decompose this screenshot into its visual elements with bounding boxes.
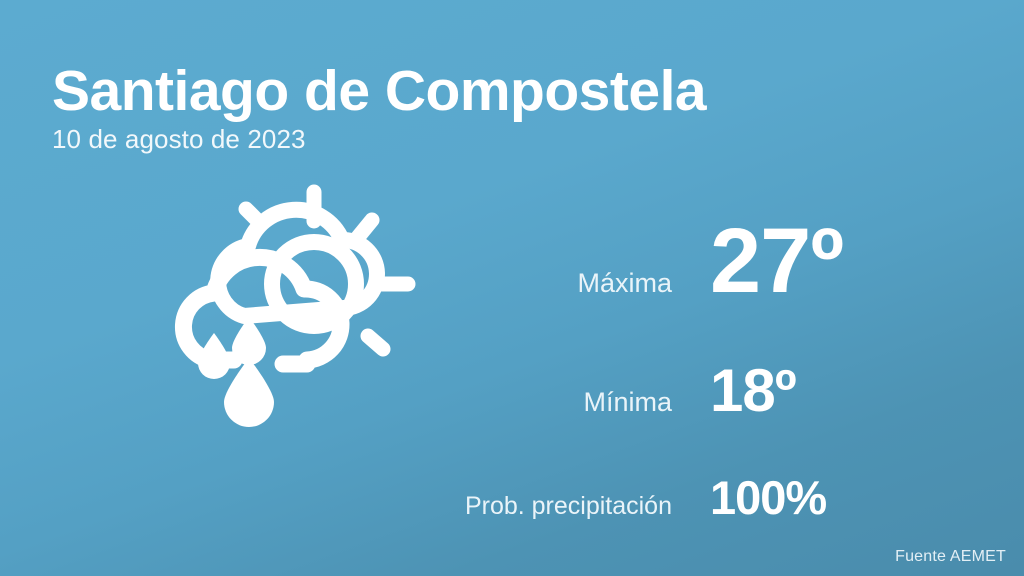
sun-behind-rain-cloud-icon [146,176,436,438]
minima-value: 18º [672,364,796,418]
source-attribution: Fuente AEMET [895,548,1006,566]
forecast-date: 10 de agosto de 2023 [52,120,952,155]
readings-panel: Máxima 27º Mínima 18º Prob. precipitació… [420,178,960,518]
sun-ray-lower-right [368,336,383,349]
raindrop-small-top [232,317,266,365]
weather-card: Santiago de Compostela 10 de agosto de 2… [0,0,1024,576]
city-title: Santiago de Compostela [52,62,952,120]
reading-row-maxima: Máxima 27º [420,220,960,303]
precipitacion-value: 100% [672,477,826,519]
raindrop-left [198,333,230,379]
weather-icon [146,176,436,438]
reading-row-precipitacion: Prob. precipitación 100% [420,477,960,521]
maxima-value: 27º [672,220,843,303]
reading-row-minima: Mínima 18º [420,364,960,418]
maxima-label: Máxima [420,268,672,299]
minima-label: Mínima [420,387,672,418]
card-header: Santiago de Compostela 10 de agosto de 2… [52,62,952,155]
precipitacion-label: Prob. precipitación [420,492,672,521]
